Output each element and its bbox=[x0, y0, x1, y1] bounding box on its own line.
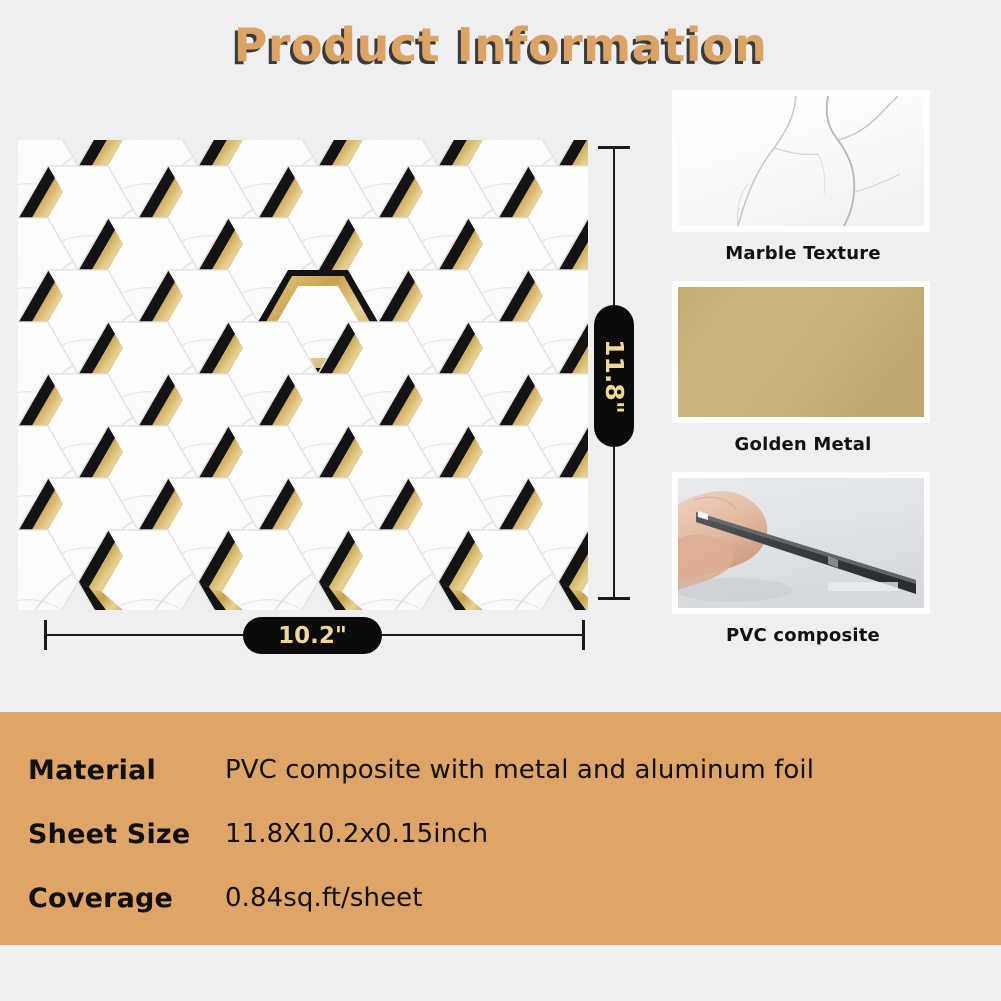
golden-metal-frame bbox=[672, 281, 930, 423]
golden-metal-image bbox=[678, 287, 924, 417]
sample-label-pvc-composite: PVC composite bbox=[672, 614, 934, 651]
specification-table: Material PVC composite with metal and al… bbox=[0, 712, 1001, 945]
page-title: Product Information bbox=[234, 20, 768, 71]
sample-label-marble-texture: Marble Texture bbox=[672, 232, 934, 269]
marble-texture-image bbox=[678, 96, 924, 226]
marble-texture-frame bbox=[672, 90, 930, 232]
product-tile-image bbox=[18, 140, 588, 610]
pvc-composite-frame bbox=[672, 472, 930, 614]
height-dimension-cap-bottom bbox=[598, 597, 630, 600]
pvc-composite-image bbox=[678, 478, 924, 608]
spec-value-coverage: 0.84sq.ft/sheet bbox=[225, 883, 423, 913]
width-dimension-badge: 10.2" bbox=[243, 617, 382, 654]
page-header: Product Information bbox=[0, 20, 1001, 71]
width-dimension-cap-right bbox=[582, 620, 585, 650]
material-samples-list: Marble Texture Golden Metal bbox=[672, 90, 934, 663]
hexagon-mosaic-svg bbox=[18, 140, 588, 610]
sample-label-golden-metal: Golden Metal bbox=[672, 423, 934, 460]
spec-label-sheet-size: Sheet Size bbox=[28, 819, 225, 850]
sample-card-pvc-composite: PVC composite bbox=[672, 472, 934, 651]
spec-label-coverage: Coverage bbox=[28, 883, 225, 914]
spec-row-coverage: Coverage 0.84sq.ft/sheet bbox=[28, 878, 978, 918]
height-dimension-value: 11.8" bbox=[600, 339, 629, 414]
spec-value-sheet-size: 11.8X10.2x0.15inch bbox=[225, 819, 488, 849]
spec-row-sheet-size: Sheet Size 11.8X10.2x0.15inch bbox=[28, 814, 978, 854]
sample-card-golden-metal: Golden Metal bbox=[672, 281, 934, 460]
spec-row-material: Material PVC composite with metal and al… bbox=[28, 750, 978, 790]
spec-value-material: PVC composite with metal and aluminum fo… bbox=[225, 755, 814, 785]
height-dimension-badge: 11.8" bbox=[594, 305, 634, 447]
sample-card-marble-texture: Marble Texture bbox=[672, 90, 934, 269]
spec-label-material: Material bbox=[28, 755, 225, 786]
